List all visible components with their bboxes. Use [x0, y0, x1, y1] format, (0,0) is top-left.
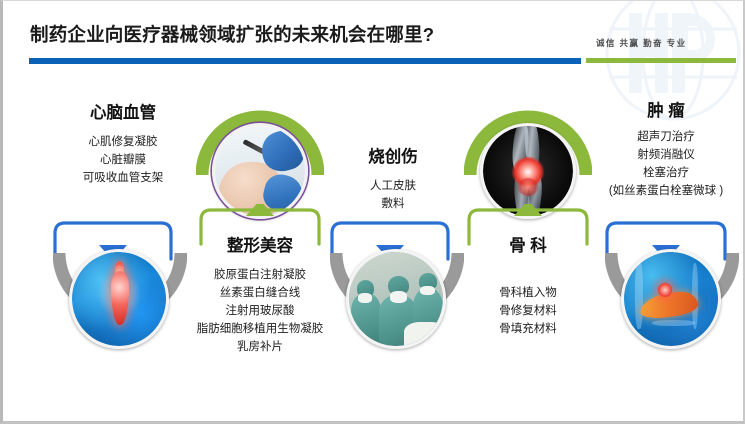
- company-slogan: 诚信 共赢 勤奋 专业: [596, 37, 687, 49]
- tumor-organ-photo: [621, 249, 721, 349]
- list-item: 注射用玻尿酸: [160, 302, 360, 320]
- list-item: 丝素蛋白缝合线: [160, 284, 360, 302]
- list-item: 射频消融仪: [581, 146, 745, 164]
- slide-page: 制药企业向医疗器械领域扩张的未来机会在哪里? 诚信 共赢 勤奋 专业 心脑血管 …: [3, 1, 743, 421]
- category-title-cardio: 心脑血管: [43, 99, 203, 123]
- category-items-ortho: 骨科植入物 骨修复材料 骨填充材料: [453, 284, 603, 338]
- category-items-tumor: 超声刀治疗 射频消融仪 栓塞治疗 (如丝素蛋白栓塞微球 ): [581, 128, 745, 200]
- list-item: 敷料: [318, 195, 468, 213]
- list-item: 骨修复材料: [453, 302, 603, 320]
- category-items-cardio: 心肌修复凝胶 心脏瓣膜 可吸收血管支架: [28, 133, 218, 187]
- list-item: 骨填充材料: [453, 320, 603, 338]
- heart-vascular-photo: [69, 249, 169, 349]
- list-item: 栓塞治疗: [581, 164, 745, 182]
- category-items-burn: 人工皮肤 敷料: [318, 177, 468, 213]
- list-item: 人工皮肤: [318, 177, 468, 195]
- category-title-cosmetic: 整形美容: [180, 232, 340, 256]
- list-item: (如丝素蛋白栓塞微球 ): [581, 182, 745, 200]
- header-rule-green: [586, 58, 736, 63]
- cosmetic-injection-photo: [212, 123, 308, 219]
- list-item: 心肌修复凝胶: [28, 133, 218, 151]
- slide-canvas: 制药企业向医疗器械领域扩张的未来机会在哪里? 诚信 共赢 勤奋 专业 心脑血管 …: [0, 0, 745, 424]
- page-title: 制药企业向医疗器械领域扩张的未来机会在哪里?: [30, 21, 434, 47]
- category-items-cosmetic: 胶原蛋白注射凝胶 丝素蛋白缝合线 注射用玻尿酸 脂肪细胞移植用生物凝胶 乳房补片: [160, 266, 360, 356]
- list-item: 心脏瓣膜: [28, 151, 218, 169]
- list-item: 胶原蛋白注射凝胶: [160, 266, 360, 284]
- company-watermark-logo: [581, 0, 745, 146]
- category-title-ortho: 骨 科: [453, 232, 603, 256]
- list-item: 乳房补片: [160, 338, 360, 356]
- surgery-team-photo: [346, 249, 446, 349]
- header-rule-blue: [29, 58, 581, 64]
- category-title-tumor: 肿 瘤: [591, 97, 741, 121]
- list-item: 超声刀治疗: [581, 128, 745, 146]
- category-title-burn: 烧创伤: [318, 143, 468, 167]
- list-item: 骨科植入物: [453, 284, 603, 302]
- knee-bone-photo: [480, 123, 576, 219]
- list-item: 可吸收血管支架: [28, 169, 218, 187]
- list-item: 脂肪细胞移植用生物凝胶: [160, 320, 360, 338]
